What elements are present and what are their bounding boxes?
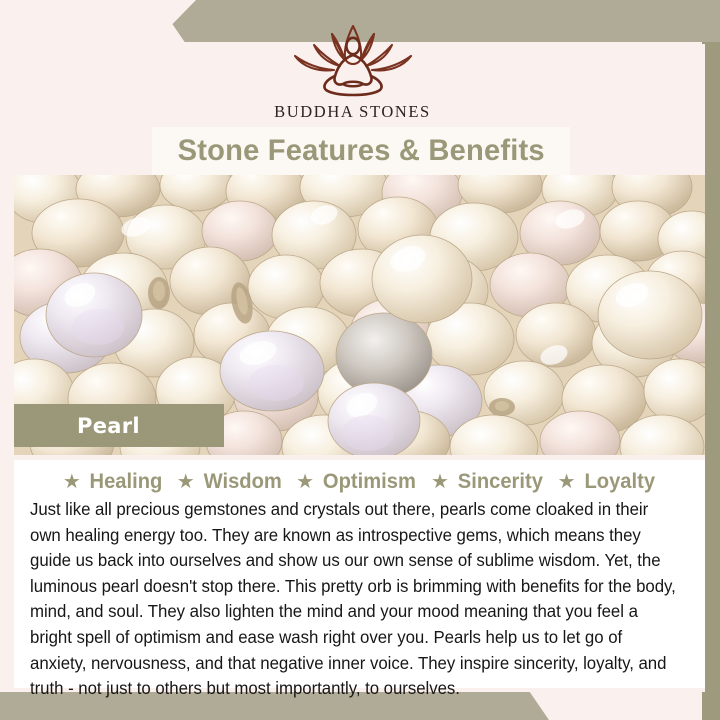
star-icon: ★ xyxy=(296,472,314,492)
feature-label: Sincerity xyxy=(458,470,543,494)
stone-benefits-infographic: BUDDHA STONES Stone Features & Benefits xyxy=(0,0,720,720)
star-icon: ★ xyxy=(431,472,449,492)
feature-item-optimism: ★ Optimism xyxy=(296,470,418,494)
lotus-meditation-icon xyxy=(278,20,428,98)
page-title: Stone Features & Benefits xyxy=(177,134,544,168)
star-icon: ★ xyxy=(63,472,81,492)
feature-list: ★ Healing ★ Wisdom ★ Optimism ★ Sincerit… xyxy=(14,460,705,494)
photo-caption-bar: Pearl xyxy=(14,404,224,447)
star-icon: ★ xyxy=(177,472,195,492)
photo-caption: Pearl xyxy=(77,414,140,438)
feature-label: Healing xyxy=(89,470,162,494)
feature-label: Loyalty xyxy=(584,470,655,494)
brand-logo: BUDDHA STONES xyxy=(0,20,705,122)
benefits-description: Just like all precious gemstones and cry… xyxy=(30,497,679,702)
benefits-card: ★ Healing ★ Wisdom ★ Optimism ★ Sincerit… xyxy=(14,460,705,688)
feature-item-wisdom: ★ Wisdom xyxy=(177,470,283,494)
feature-item-sincerity: ★ Sincerity xyxy=(431,470,545,494)
feature-item-healing: ★ Healing xyxy=(63,470,164,494)
brand-name: BUDDHA STONES xyxy=(274,102,431,122)
feature-label: Wisdom xyxy=(203,470,281,494)
star-icon: ★ xyxy=(558,472,576,492)
feature-label: Optimism xyxy=(323,470,416,494)
feature-item-loyalty: ★ Loyalty xyxy=(558,470,656,494)
page-title-band: Stone Features & Benefits xyxy=(152,127,570,175)
